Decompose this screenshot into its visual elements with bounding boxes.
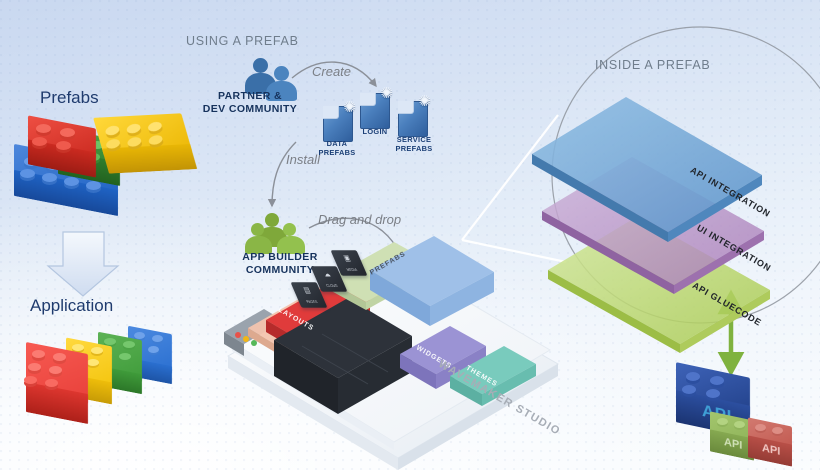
application-brick-slab xyxy=(24,326,184,434)
infographic-canvas: Prefabs xyxy=(0,0,820,470)
section-title-using-prefab: USING A PREFAB xyxy=(186,34,299,48)
data-prefabs-icon[interactable]: ✺ xyxy=(323,106,351,140)
cloud-icon: ☁ xyxy=(322,270,332,279)
section-title-inside-prefab: INSIDE A PREFAB xyxy=(595,58,710,72)
studio-tile-pages-caption: PAGES xyxy=(298,300,326,305)
service-prefabs-line2: PREFABS xyxy=(388,145,440,154)
create-arrow-label: Create xyxy=(312,64,351,79)
service-prefabs-icon[interactable]: ✺ xyxy=(398,101,426,135)
gear-icon: ✺ xyxy=(418,94,431,109)
data-prefabs-line2: PREFABS xyxy=(312,149,362,158)
prefabs-title: Prefabs xyxy=(40,88,99,108)
application-title: Application xyxy=(30,296,113,316)
application-arrow xyxy=(48,232,118,296)
wavemaker-studio-mockup: LAYOUTS WIDGETS THEMES PREFABS ▣ MEDIA ☁… xyxy=(218,236,578,466)
data-prefabs-caption: DATA PREFABS xyxy=(312,140,362,157)
prefab-layer-stack: API INTEGRATION UI INTEGRATION API GLUEC… xyxy=(530,85,785,290)
partner-community-label: PARTNER & DEV COMMUNITY xyxy=(188,90,312,115)
partner-community-line1: PARTNER & xyxy=(188,90,312,103)
monitor-icon: ▤ xyxy=(302,286,312,295)
studio-tile-cloud-caption: CLOUD xyxy=(318,284,346,289)
prefab-brick-cluster xyxy=(10,108,185,223)
image-icon: ▣ xyxy=(342,254,352,263)
login-prefab-icon[interactable]: ✺ xyxy=(360,93,388,127)
api-brick-group: API API API xyxy=(672,368,802,460)
studio-tile-media-caption: MEDIA xyxy=(338,268,366,273)
service-prefabs-caption: SERVICE PREFABS xyxy=(388,136,440,153)
gear-icon: ✺ xyxy=(380,86,393,101)
gear-icon: ✺ xyxy=(343,100,356,115)
drag-drop-label: Drag and drop xyxy=(318,212,401,227)
partner-community-line2: DEV COMMUNITY xyxy=(188,103,312,116)
